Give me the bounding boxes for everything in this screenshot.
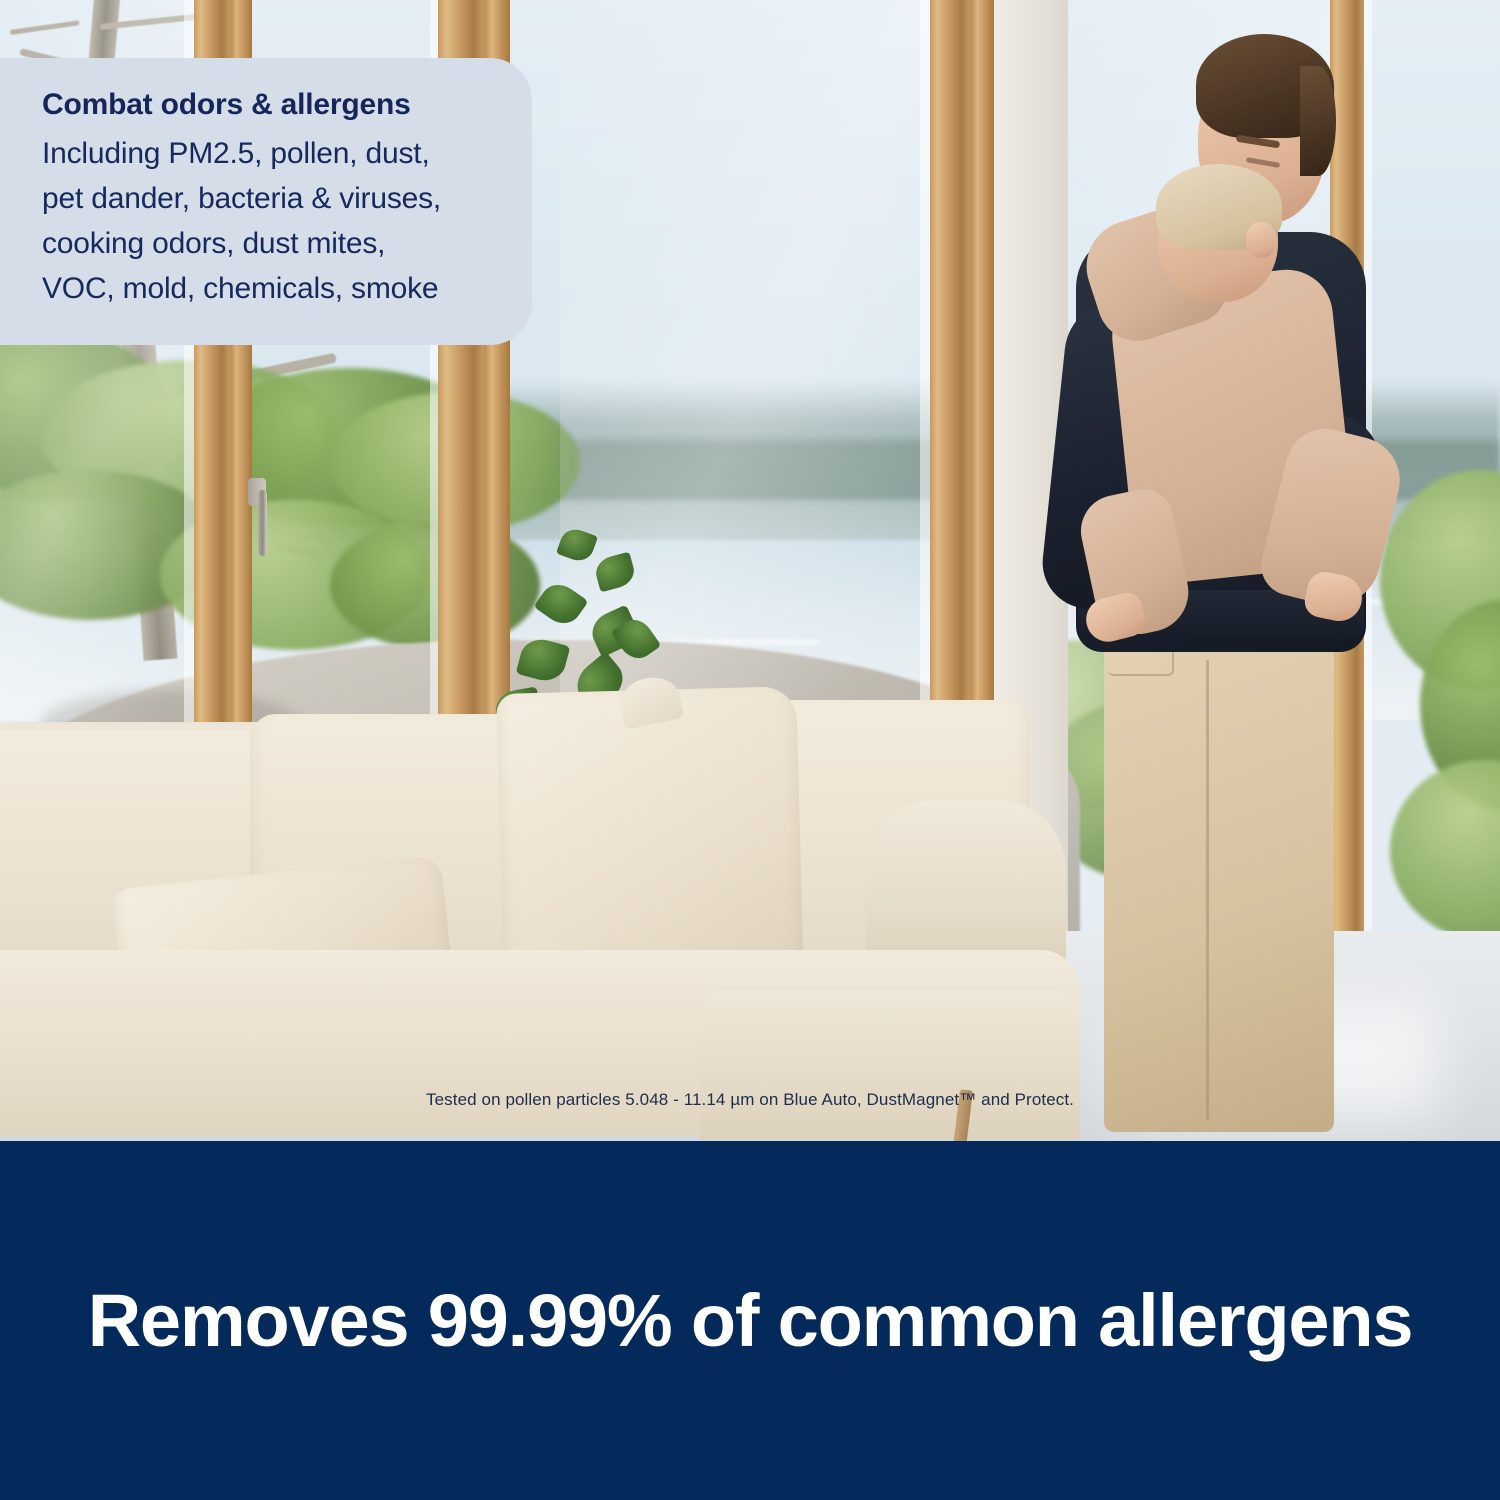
headline-banner: Removes 99.99% of common allergens xyxy=(0,1141,1500,1500)
callout-line-4: VOC, mold, chemicals, smoke xyxy=(42,266,486,311)
sofa-seat-cushion xyxy=(0,1016,740,1136)
shrub-foliage xyxy=(1390,760,1500,940)
product-marketing-image: Tested on pollen particles 5.048 - 11.14… xyxy=(0,0,1500,1500)
headline-text: Removes 99.99% of common allergens xyxy=(88,1278,1413,1363)
trouser-seam xyxy=(1206,660,1209,1120)
trousers xyxy=(1104,612,1334,1132)
man-hair-side xyxy=(1300,66,1336,176)
callout-line-1: Including PM2.5, pollen, dust, xyxy=(42,131,486,176)
callout-line-2: pet dander, bacteria & viruses, xyxy=(42,176,486,221)
window-handle[interactable] xyxy=(258,490,267,556)
callout-title: Combat odors & allergens xyxy=(42,88,486,122)
sofa-seat-cushion xyxy=(700,990,1080,1140)
callout-line-3: cooking odors, dust mites, xyxy=(42,221,486,266)
baby-ear xyxy=(1246,222,1276,258)
sofa-pillow-large xyxy=(496,686,804,994)
disclaimer-text: Tested on pollen particles 5.048 - 11.14… xyxy=(0,1090,1500,1110)
feature-callout: Combat odors & allergens Including PM2.5… xyxy=(0,58,532,345)
